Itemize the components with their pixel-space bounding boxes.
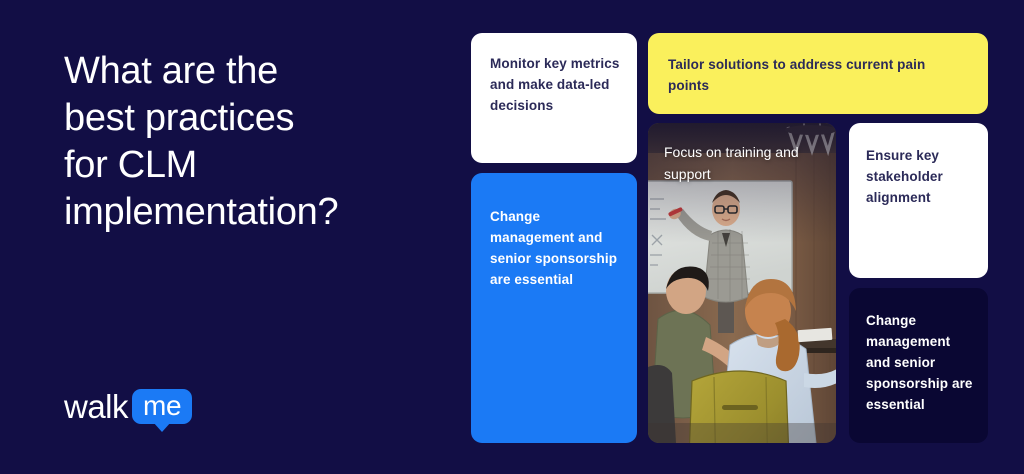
card-change-management-blue-text: Change management and senior sponsorship… — [490, 206, 622, 290]
card-grid: Monitor key metrics and make data-led de… — [0, 0, 1024, 474]
card-ensure-stakeholder-alignment[interactable]: Ensure key stakeholder alignment — [849, 123, 988, 278]
slide-root: What are the best practices for CLM impl… — [0, 0, 1024, 474]
card-ensure-stakeholder-alignment-text: Ensure key stakeholder alignment — [866, 145, 974, 208]
card-change-management-blue[interactable]: Change management and senior sponsorship… — [471, 173, 637, 443]
card-change-management-dark[interactable]: Change management and senior sponsorship… — [849, 288, 988, 443]
card-change-management-dark-text: Change management and senior sponsorship… — [866, 310, 978, 415]
card-tailor-solutions-text: Tailor solutions to address current pain… — [668, 54, 958, 96]
card-tailor-solutions[interactable]: Tailor solutions to address current pain… — [648, 33, 988, 114]
card-monitor-metrics-text: Monitor key metrics and make data-led de… — [490, 53, 620, 116]
card-monitor-metrics[interactable]: Monitor key metrics and make data-led de… — [471, 33, 637, 163]
card-focus-training-text: Focus on training and support — [664, 141, 824, 185]
card-focus-training[interactable]: Focus on training and support — [648, 123, 836, 443]
